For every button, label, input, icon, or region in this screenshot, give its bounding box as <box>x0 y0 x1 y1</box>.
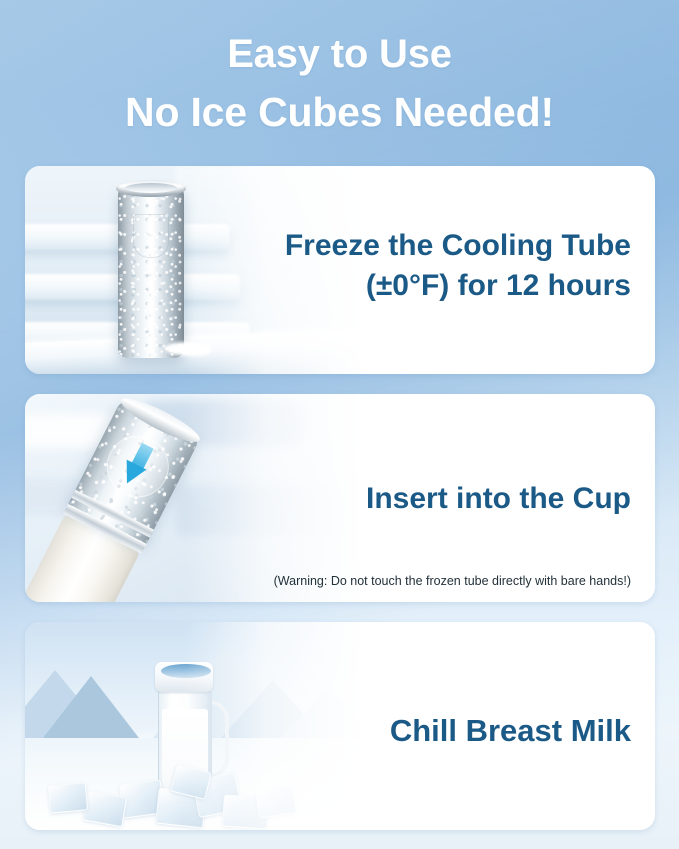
step-freeze-line-2: (±0°F) for 12 hours <box>211 266 631 306</box>
cooling-tube <box>118 186 184 358</box>
frost-heap <box>165 342 211 356</box>
ice-cube <box>222 794 270 829</box>
step-chill-line-1: Chill Breast Milk <box>211 710 631 751</box>
bottle-lid <box>155 662 213 692</box>
tube-highlight <box>147 186 156 358</box>
step-freeze-text: Freeze the Cooling Tube (±0°F) for 12 ho… <box>211 226 631 306</box>
ice-cube <box>48 782 88 813</box>
step-freeze-line-1: Freeze the Cooling Tube <box>211 226 631 266</box>
warning-note: (Warning: Do not touch the frozen tube d… <box>171 574 631 588</box>
bottle-mesh-top <box>161 664 211 678</box>
mountain-peak <box>43 676 139 738</box>
step-chill-text: Chill Breast Milk <box>211 710 631 751</box>
milk-fill <box>162 709 208 801</box>
ice-cube <box>255 785 297 819</box>
tube-logo-emboss <box>133 214 169 258</box>
step-insert-text: Insert into the Cup <box>211 479 631 519</box>
step-card-freeze: Freeze the Cooling Tube (±0°F) for 12 ho… <box>25 166 655 374</box>
ice-cube <box>192 772 243 818</box>
step-card-insert: Insert into the Cup (Warning: Do not tou… <box>25 394 655 602</box>
infographic-page: Easy to Use No Ice Cubes Needed! Freeze … <box>0 0 679 849</box>
headline-line-1: Easy to Use <box>0 26 679 83</box>
step-card-chill: Chill Breast Milk <box>25 622 655 830</box>
step-insert-line-1: Insert into the Cup <box>211 479 631 519</box>
page-title: Easy to Use No Ice Cubes Needed! <box>0 26 679 141</box>
bottle-body <box>158 690 212 804</box>
headline-line-2: No Ice Cubes Needed! <box>0 83 679 141</box>
tube-cap-inner <box>125 183 177 193</box>
